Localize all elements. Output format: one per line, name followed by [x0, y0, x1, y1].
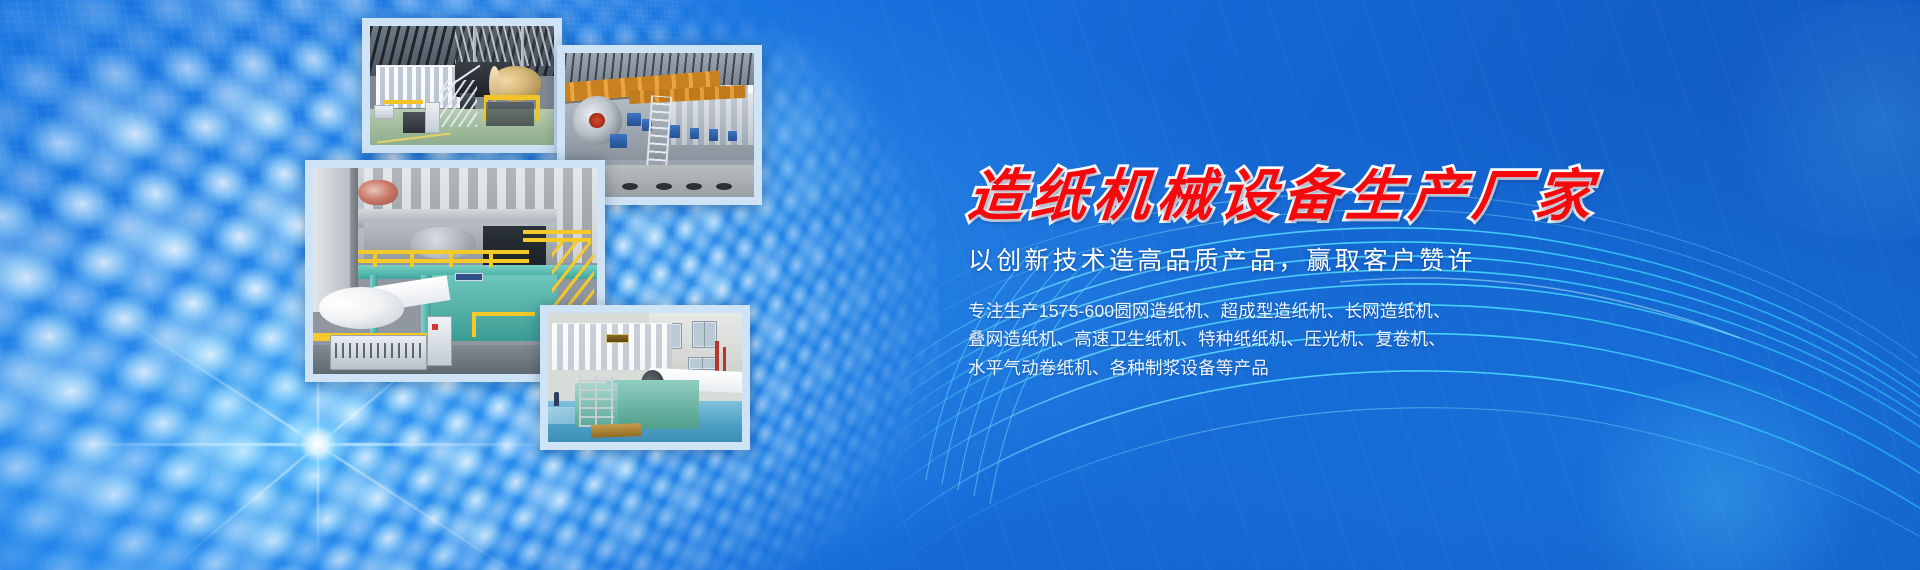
photo2-blue-motor [669, 125, 680, 138]
banner-headline: 造纸机械设备生产厂家 [966, 168, 1611, 224]
photo4-window [692, 321, 717, 348]
photo1-equipment [486, 102, 534, 126]
photo3-yellow-railing [358, 259, 528, 263]
photo2-blue-motor [690, 128, 699, 140]
banner-body-text: 专注生产1575-600圆网造纸机、超成型造纸机、长网造纸机、叠网造纸机、高速卫… [968, 297, 1460, 382]
promo-banner: 造纸机械设备生产厂家 以创新技术造高品质产品，赢取客户赞许 专注生产1575-6… [0, 0, 1920, 570]
photo3-paper-roll [319, 287, 404, 328]
photo4-dryer-hood [552, 323, 672, 369]
photo4-wood-pallet [590, 423, 641, 438]
photo4-green-machine [606, 380, 699, 429]
photo2-blue-motor [610, 134, 627, 148]
photo1-yellow-guard [536, 95, 540, 121]
photo1-yellow-guard [383, 100, 423, 104]
photo2-blue-motor [709, 129, 718, 141]
photo2-machine-foot [622, 183, 638, 190]
photo3-control-cabinet [427, 316, 453, 365]
photo1-equipment [403, 112, 425, 133]
photo4-window [688, 357, 717, 370]
photo1-panel [374, 105, 394, 119]
photo3-yellow-post [472, 312, 476, 337]
photo3-console-buttons [335, 343, 422, 358]
photo1-control-cabinet [425, 102, 440, 133]
photo-green-tissue-machine-with-blue-floor[interactable] [540, 305, 750, 450]
product-photo-collage [0, 0, 1000, 570]
banner-subtitle: 以创新技术造高品质产品，赢取客户赞许 [968, 241, 1608, 277]
banner-subtitle-wrapper: 以创新技术造高品质产品，赢取客户赞许 [968, 241, 1608, 277]
photo2-machine-foot [716, 183, 732, 190]
photo-paper-mill-hall-with-large-reel[interactable] [362, 18, 562, 153]
photo3-name-plate [455, 273, 483, 281]
photo3-yellow-railing [358, 250, 528, 254]
photo3-yellow-post [449, 250, 453, 266]
photo4-worker [554, 392, 559, 406]
photo3-yellow-railing [523, 230, 591, 234]
photo3-yellow-post [373, 250, 377, 266]
photo4-machine-nameplate [606, 334, 629, 343]
photo3-yellow-post [410, 250, 414, 266]
photo3-yellow-post [489, 250, 493, 266]
photo3-building-pillar [350, 168, 359, 304]
photo2-machine-foot [686, 183, 702, 190]
photo4-scaffold-frame [579, 375, 614, 427]
banner-text-block: 造纸机械设备生产厂家 以创新技术造高品质产品，赢取客户赞许 专注生产1575-6… [968, 168, 1608, 382]
photo3-red-tank [358, 180, 398, 205]
photo3-control-console[interactable] [330, 335, 427, 370]
photo2-blue-motor [728, 131, 737, 141]
photo1-roof-panels [455, 26, 554, 66]
photo3-yellow-railing [472, 312, 534, 316]
photo1-yellow-guard [484, 95, 539, 100]
photo2-machine-foot [656, 183, 672, 190]
photo2-blue-motor [627, 113, 640, 126]
